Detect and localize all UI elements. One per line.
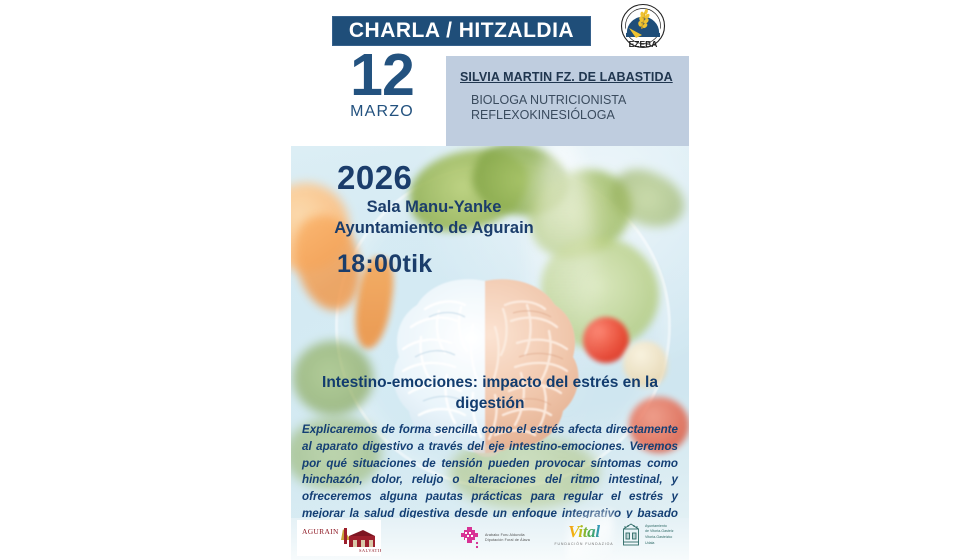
poster-canvas: CHARLA / HITZALDIA — [0, 0, 980, 560]
event-time: 18:00tik — [337, 250, 433, 279]
speaker-role-line-1: BIOLOGA NUTRICIONISTA — [471, 93, 626, 108]
venue-line-2: Ayuntamiento de Agurain — [319, 218, 549, 239]
speaker-name: SILVIA MARTIN FZ. DE LABASTIDA — [460, 70, 673, 84]
dfa-line-2: Diputación Foral de Álava — [485, 538, 530, 543]
event-venue: Sala Manu-Yanke Ayuntamiento de Agurain — [319, 197, 549, 239]
event-date-block: 12 MARZO — [317, 48, 447, 121]
poster-photo-area: 2026 Sala Manu-Yanke Ayuntamiento de Agu… — [291, 145, 689, 520]
logo-agurain: AGURAIN SALVATIERRA — [297, 520, 381, 556]
vg-line-4: Udala — [645, 541, 674, 547]
vg-text-block: Ayuntamiento de Vitoria-Gasteiz Vitoria-… — [645, 524, 674, 546]
poster-header: CHARLA / HITZALDIA — [291, 0, 689, 146]
speaker-role-line-2: REFLEXOKINESIÓLOGA — [471, 108, 626, 123]
speaker-panel: SILVIA MARTIN FZ. DE LABASTIDA BIOLOGA N… — [446, 56, 689, 146]
vg-line-3: Vitoria-Gasteizko — [645, 535, 674, 541]
venue-line-1: Sala Manu-Yanke — [319, 197, 549, 218]
speaker-role: BIOLOGA NUTRICIONISTA REFLEXOKINESIÓLOGA — [471, 93, 626, 123]
event-year: 2026 — [337, 159, 412, 197]
logo-diputacion-foral-alava: Arabako Foru Aldundia Diputación Foral d… — [459, 524, 530, 552]
event-day: 12 — [317, 48, 447, 102]
poster-footer: AGURAIN SALVATIERRA — [291, 518, 689, 560]
vital-wordmark: Vital — [553, 523, 615, 540]
event-month: MARZO — [317, 103, 447, 121]
talk-description: Explicaremos de forma sencilla como el e… — [302, 422, 678, 520]
ezeba-logo-text: EZEBA — [629, 39, 658, 49]
dfa-text-block: Arabako Foru Aldundia Diputación Foral d… — [485, 533, 530, 544]
talk-title: Intestino-emociones: impacto del estrés … — [309, 373, 671, 415]
banner-title-text: CHARLA / HITZALDIA — [349, 19, 574, 43]
logo-vitoria-gasteiz: Ayuntamiento de Vitoria-Gasteiz Vitoria-… — [621, 522, 674, 548]
svg-text:SALVATIERRA: SALVATIERRA — [359, 548, 381, 553]
logo-vital: Vital FUNDACIÓN FUNDAZIOA — [553, 523, 615, 546]
vitoria-gasteiz-crest-icon — [621, 522, 641, 548]
dfa-emblem-icon — [459, 526, 481, 550]
logo-agurain-text: AGURAIN — [302, 527, 339, 536]
ezeba-logo-icon: EZEBA — [615, 2, 671, 54]
vital-subtitle: FUNDACIÓN FUNDAZIOA — [553, 542, 615, 546]
event-poster: CHARLA / HITZALDIA — [291, 0, 689, 560]
